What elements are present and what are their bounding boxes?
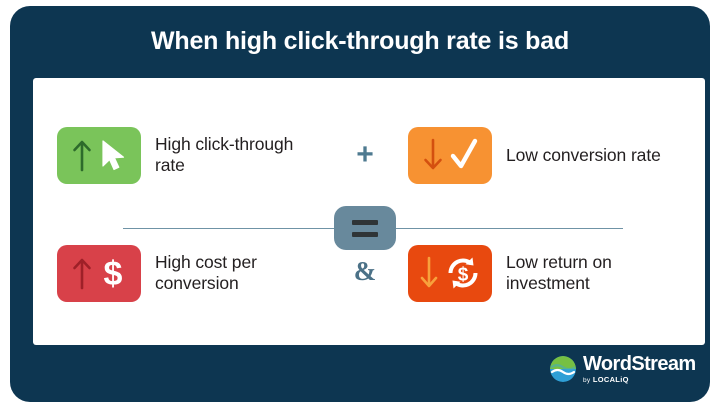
cursor-icon: [97, 137, 129, 173]
content-card: High click-through rate + Low conversion…: [33, 78, 705, 345]
conversion-icon-box: [408, 127, 492, 184]
localiq-name: LOCALiQ: [593, 375, 629, 384]
roi-icon-box: $: [408, 245, 492, 302]
cost-icon-box: $: [57, 245, 141, 302]
wordstream-logo-text: WordStream by LOCALiQ: [583, 354, 696, 385]
equals-bar-top: [352, 220, 378, 225]
dollar-sign-icon: $: [97, 253, 129, 293]
wordstream-name: WordStream: [583, 354, 696, 374]
row-bottom: $ High cost per conversion &: [33, 228, 705, 318]
svg-text:$: $: [104, 255, 123, 293]
down-arrow-icon: [420, 137, 446, 173]
item-high-cost-per-conversion: $ High cost per conversion: [57, 228, 307, 318]
ampersand-operator: &: [345, 254, 385, 288]
page-title: When high click-through rate is bad: [0, 26, 720, 56]
svg-text:$: $: [458, 265, 469, 286]
roi-label: Low return on investment: [506, 252, 688, 294]
wordstream-logo: WordStream by LOCALiQ: [550, 354, 696, 385]
ctr-icon-box: [57, 127, 141, 184]
up-arrow-icon: [69, 137, 95, 173]
refresh-dollar-icon: $: [443, 253, 483, 293]
up-arrow-icon: [69, 255, 95, 291]
plus-operator: +: [345, 138, 385, 172]
item-low-return-on-investment: $ Low return on investment: [408, 228, 688, 318]
row-top: High click-through rate + Low conversion…: [33, 110, 705, 200]
wordstream-globe-icon: [550, 356, 576, 382]
checkmark-icon: [448, 137, 480, 173]
item-low-conversion-rate: Low conversion rate: [408, 110, 688, 200]
wordstream-parent: by LOCALiQ: [583, 376, 696, 385]
logo-by-text: by: [583, 377, 590, 384]
item-high-click-through-rate: High click-through rate: [57, 110, 307, 200]
down-arrow-icon: [417, 255, 441, 291]
infographic-canvas: When high click-through rate is bad High…: [0, 0, 720, 409]
ctr-label: High click-through rate: [155, 134, 307, 176]
cost-label: High cost per conversion: [155, 252, 307, 294]
conversion-label: Low conversion rate: [506, 145, 661, 166]
